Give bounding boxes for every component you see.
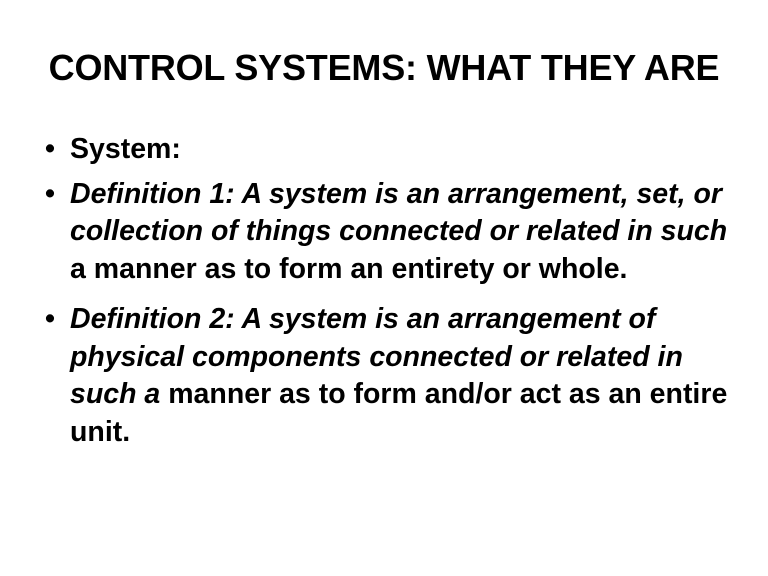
list-item-definition-1: • Definition 1: A system is an arrangeme… bbox=[38, 176, 750, 289]
list-item-text: Definition 2: A system is an arrangement… bbox=[70, 303, 727, 448]
slide-canvas: CONTROL SYSTEMS: WHAT THEY ARE • System:… bbox=[0, 0, 768, 576]
text-segment: manner as to form and/or act as an entir… bbox=[70, 378, 727, 448]
list-item-text: Definition 1: A system is an arrangement… bbox=[70, 178, 727, 285]
text-segment-emphasis: Definition 1: A system is an arrangement… bbox=[70, 178, 727, 248]
bullet-point-icon: • bbox=[45, 131, 63, 169]
text-segment: System: bbox=[70, 133, 181, 165]
bullet-list: • System: • Definition 1: A system is an… bbox=[38, 131, 750, 451]
page-title: CONTROL SYSTEMS: WHAT THEY ARE bbox=[0, 46, 768, 90]
list-item-text: System: bbox=[70, 133, 181, 165]
list-item-definition-2: • Definition 2: A system is an arrangeme… bbox=[38, 301, 750, 451]
bullet-point-icon: • bbox=[45, 176, 63, 214]
bullet-point-icon: • bbox=[45, 301, 63, 339]
text-segment: a manner as to form an entirety or whole… bbox=[70, 253, 627, 285]
list-item-system: • System: bbox=[38, 131, 750, 169]
